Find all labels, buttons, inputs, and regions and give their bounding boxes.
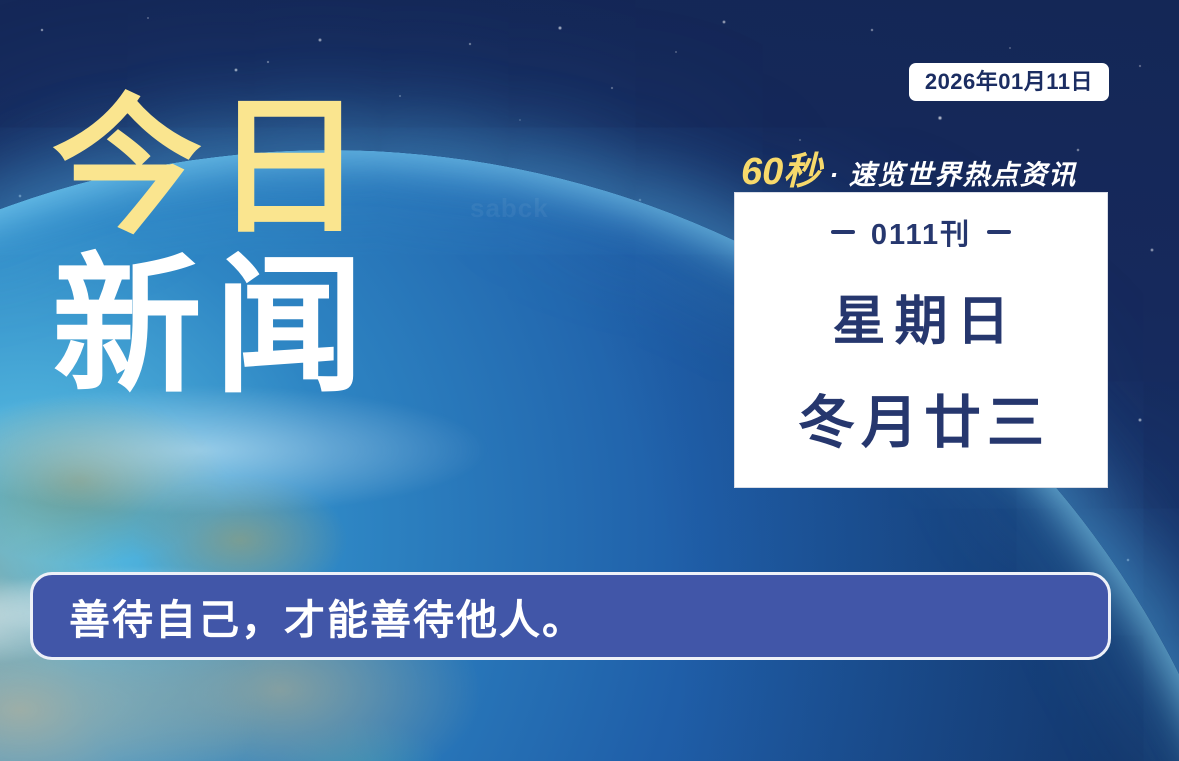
tagline: 60秒 · 速览世界热点资讯 — [741, 140, 1077, 195]
issue-number-row: 0111刊 — [831, 211, 1011, 253]
news-poster: sabck 2026年01月11日 今日 新闻 60秒 · 速览世界热点资讯 0… — [0, 0, 1179, 761]
weekday-label: 星期日 — [824, 279, 1019, 355]
brand-title-line-1: 今日 — [52, 98, 376, 239]
brand-title-line-2: 新闻 — [52, 257, 376, 398]
quote-bar: 善待自己，才能善待他人。 — [30, 572, 1111, 660]
tagline-duration: 60秒 — [741, 140, 821, 195]
date-badge: 2026年01月11日 — [909, 63, 1109, 101]
dash-left-icon — [831, 230, 855, 234]
quote-text: 善待自己，才能善待他人。 — [69, 586, 585, 646]
issue-number: 0111刊 — [871, 211, 971, 253]
issue-info-card: 0111刊 星期日 冬月廿三 — [734, 192, 1108, 488]
brand-title: 今日 新闻 — [52, 98, 376, 398]
lunar-date-label: 冬月廿三 — [792, 377, 1050, 459]
dash-right-icon — [987, 230, 1011, 234]
tagline-description: · 速览世界热点资讯 — [829, 153, 1077, 192]
